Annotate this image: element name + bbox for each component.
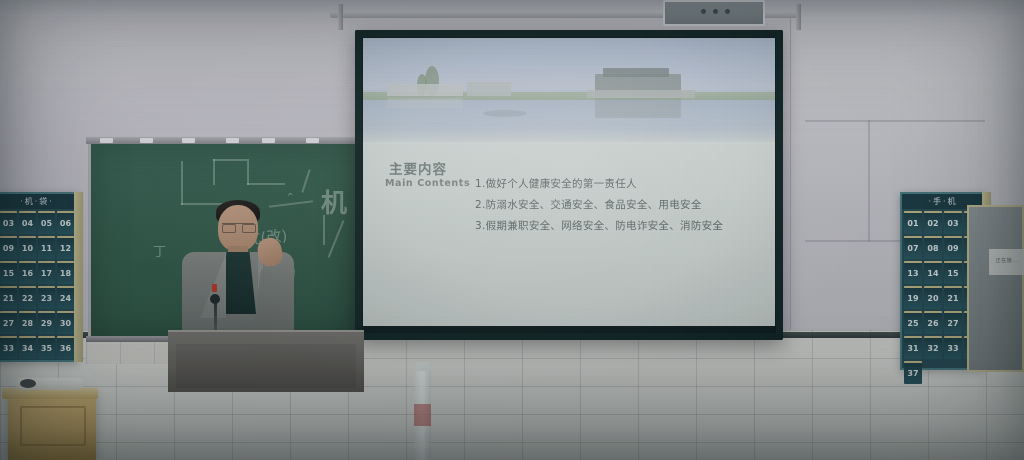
pocket[interactable]: 27 (944, 311, 962, 334)
pocket[interactable]: 18 (57, 261, 74, 284)
slide-bullet-2: 2.防溺水安全、交通安全、食品安全、用电安全 (475, 195, 769, 216)
pocket[interactable]: 34 (19, 336, 36, 359)
bracket-arm-left (338, 4, 343, 30)
slide-content-area: 主要内容 Main Contents 1.做好个人健康安全的第一责任人 2.防溺… (363, 142, 775, 326)
pocket[interactable]: 09 (944, 236, 962, 259)
projection-screen-surface[interactable]: 主要内容 Main Contents 1.做好个人健康安全的第一责任人 2.防溺… (363, 38, 775, 326)
pocket[interactable]: 13 (904, 261, 922, 284)
pocket[interactable]: 33 (944, 336, 962, 359)
pocket[interactable]: 03 (0, 211, 17, 234)
bottle-cap (416, 362, 429, 371)
pocket[interactable]: 31 (904, 336, 922, 359)
pocket[interactable]: 15 (944, 261, 962, 284)
slide-bullet-1: 1.做好个人健康安全的第一责任人 (475, 174, 769, 195)
pocket[interactable]: 22 (19, 286, 36, 309)
pocket[interactable]: 06 (57, 211, 74, 234)
wall-seam-v1 (868, 120, 870, 242)
ceiling-speaker (663, 0, 765, 26)
speaker-glasses (222, 223, 254, 231)
pocket[interactable]: 25 (904, 311, 922, 334)
pocket[interactable]: 02 (924, 211, 942, 234)
notice-sign: 正在施... (989, 249, 1024, 275)
pocket[interactable]: 17 (38, 261, 55, 284)
pocket[interactable]: 29 (38, 311, 55, 334)
pocket[interactable]: 04 (19, 211, 36, 234)
chalk-clip (100, 138, 113, 143)
pocket[interactable]: 09 (0, 236, 17, 259)
chalk-clip (226, 138, 239, 143)
stool-dark-object (20, 379, 36, 388)
chalkboard-top-rail (86, 137, 362, 144)
speaker-lapel-pin (212, 284, 217, 292)
pocket[interactable]: 08 (924, 236, 942, 259)
pocket[interactable]: 37 (904, 361, 922, 384)
pocket[interactable]: 10 (19, 236, 36, 259)
pocket[interactable]: 27 (0, 311, 17, 334)
pocket[interactable]: 07 (904, 236, 922, 259)
pocket[interactable]: 21 (0, 286, 17, 309)
podium-front-panel (176, 344, 356, 388)
stool-panel (20, 406, 86, 446)
classroom-lecture-photo: ＾ 机 ~亢(改) 丁 主要内容 (0, 0, 1024, 460)
pocket[interactable]: 30 (57, 311, 74, 334)
slide-heading-chinese: 主要内容 (389, 158, 447, 178)
pocket[interactable]: 12 (57, 236, 74, 259)
pocket[interactable]: 14 (924, 261, 942, 284)
pocket[interactable]: 19 (904, 286, 922, 309)
pocket[interactable]: 24 (57, 286, 74, 309)
slide-bullet-3: 3.假期兼职安全、网络安全、防电诈安全、消防安全 (475, 216, 769, 237)
pocket[interactable]: 33 (0, 336, 17, 359)
wall-seam-h1 (805, 120, 985, 122)
slide-heading-english: Main Contents (385, 178, 470, 189)
pocket[interactable]: 28 (19, 311, 36, 334)
chalk-clip (262, 138, 275, 143)
slide-bullet-list: 1.做好个人健康安全的第一责任人 2.防溺水安全、交通安全、食品安全、用电安全 … (475, 174, 769, 237)
pocket[interactable]: 01 (904, 211, 922, 234)
slide-header-photo (363, 38, 775, 146)
pocket[interactable]: 26 (924, 311, 942, 334)
organizer-left-grid: 03 04 05 06 09 10 11 12 15 16 17 18 21 2… (0, 209, 76, 361)
bracket-arm-right (796, 4, 801, 30)
pocket[interactable]: 16 (19, 261, 36, 284)
notice-board: 正在施... (967, 205, 1024, 372)
chalk-clip (306, 138, 319, 143)
phone-pocket-organizer-left: ·机·袋· 03 04 05 06 09 10 11 12 15 16 17 1… (0, 192, 78, 362)
chalk-clip (140, 138, 153, 143)
pocket[interactable]: 35 (38, 336, 55, 359)
pocket[interactable]: 32 (924, 336, 942, 359)
bottle-label (414, 404, 431, 426)
organizer-left-edge (74, 192, 83, 362)
pocket[interactable]: 23 (38, 286, 55, 309)
notice-sign-text: 正在施... (989, 257, 1024, 264)
pocket[interactable]: 03 (944, 211, 962, 234)
speaker-raised-arm (254, 260, 295, 333)
pocket[interactable]: 11 (38, 236, 55, 259)
pocket[interactable]: 21 (944, 286, 962, 309)
pocket[interactable]: 20 (924, 286, 942, 309)
pocket[interactable]: 15 (0, 261, 17, 284)
pocket[interactable]: 36 (57, 336, 74, 359)
microphone-stand (214, 300, 217, 334)
organizer-left-title: ·机·袋· (0, 194, 76, 209)
chalk-clip (182, 138, 195, 143)
microphone-head (210, 294, 220, 304)
pocket[interactable]: 05 (38, 211, 55, 234)
